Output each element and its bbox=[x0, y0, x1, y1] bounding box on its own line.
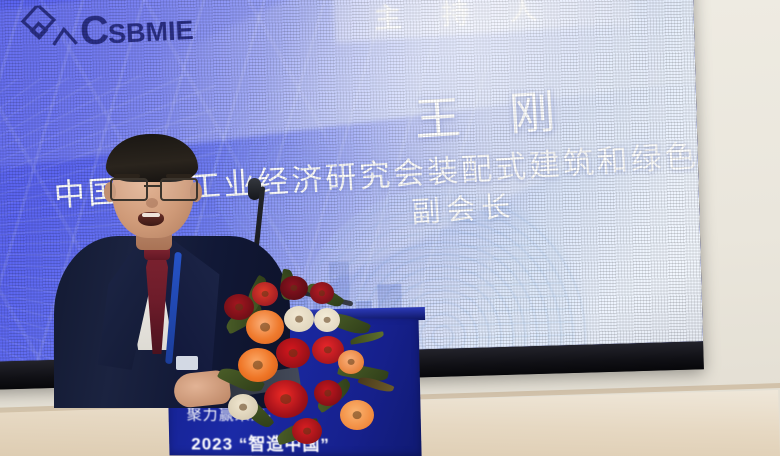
glasses-bridge bbox=[144, 185, 162, 187]
speaker-mouth bbox=[138, 212, 164, 226]
speaker-name-badge bbox=[176, 356, 198, 370]
glasses-lens-left bbox=[110, 178, 148, 201]
conference-photo-stage: C SBMIE 主 持 人 王 刚 中国建材工业经济研究会装配式建筑和绿色发展分… bbox=[0, 0, 780, 456]
glasses-lens-right bbox=[160, 178, 198, 201]
speaker-glasses-icon bbox=[108, 178, 200, 198]
speaker-nose bbox=[146, 198, 158, 208]
flower-bouquet bbox=[218, 276, 398, 456]
